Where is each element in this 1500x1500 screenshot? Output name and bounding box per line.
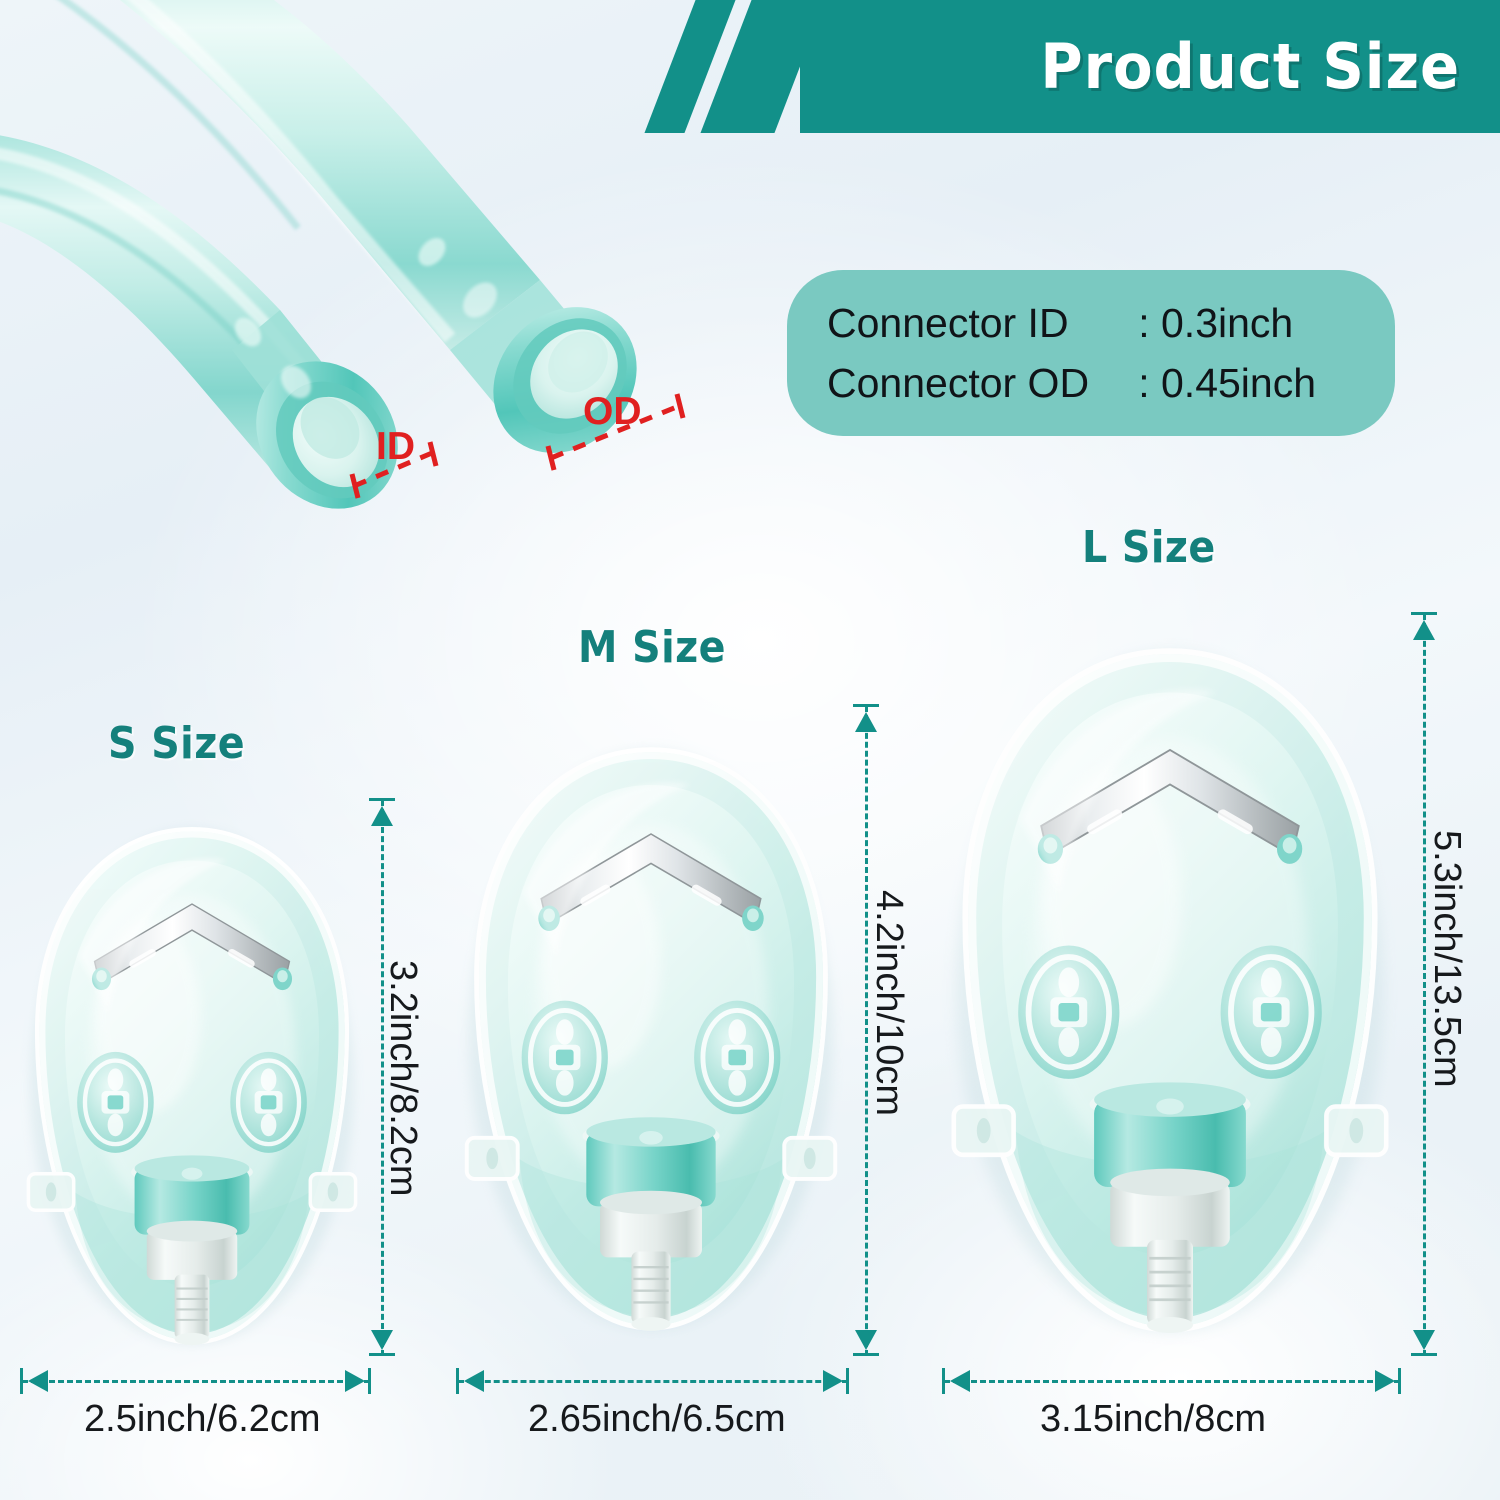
l-height-text: 5.3inch/13.5cm [1425, 830, 1468, 1088]
l-size-label: L Size [1082, 522, 1216, 573]
s-height-text: 3.2inch/8.2cm [381, 960, 424, 1197]
connector-info-panel: Connector ID : 0.3inch Connector OD : 0.… [787, 270, 1395, 436]
s-size-label: S Size [108, 718, 245, 769]
connector-id-row: Connector ID : 0.3inch [827, 293, 1355, 353]
od-label: OD [583, 390, 642, 434]
connector-od-label: Connector OD [827, 360, 1127, 407]
l-width-text: 3.15inch/8cm [1040, 1398, 1266, 1441]
connector-left [227, 310, 427, 537]
product-size-infographic: ID OD Product Size Connector ID : 0.3inc… [0, 0, 1500, 1500]
mask-small [18, 798, 366, 1358]
connector-od-row: Connector OD : 0.45inch [827, 353, 1355, 413]
m-height-text: 4.2inch/10cm [867, 890, 910, 1116]
tube-right [40, 0, 540, 350]
mask-large [940, 600, 1400, 1360]
connector-od-colon: : [1127, 360, 1161, 407]
id-label: ID [376, 425, 415, 469]
header-banner: Product Size [730, 0, 1500, 133]
connector-od-value: 0.45inch [1161, 360, 1316, 407]
tubing-connectors-photo [0, 0, 740, 560]
m-size-label: M Size [578, 622, 726, 673]
connector-id-colon: : [1127, 300, 1161, 347]
page-title: Product Size [939, 0, 1460, 133]
m-width-text: 2.65inch/6.5cm [528, 1398, 786, 1441]
s-width-text: 2.5inch/6.2cm [84, 1398, 321, 1441]
connector-id-value: 0.3inch [1161, 300, 1293, 347]
connector-id-label: Connector ID [827, 300, 1127, 347]
mask-medium [455, 700, 847, 1360]
